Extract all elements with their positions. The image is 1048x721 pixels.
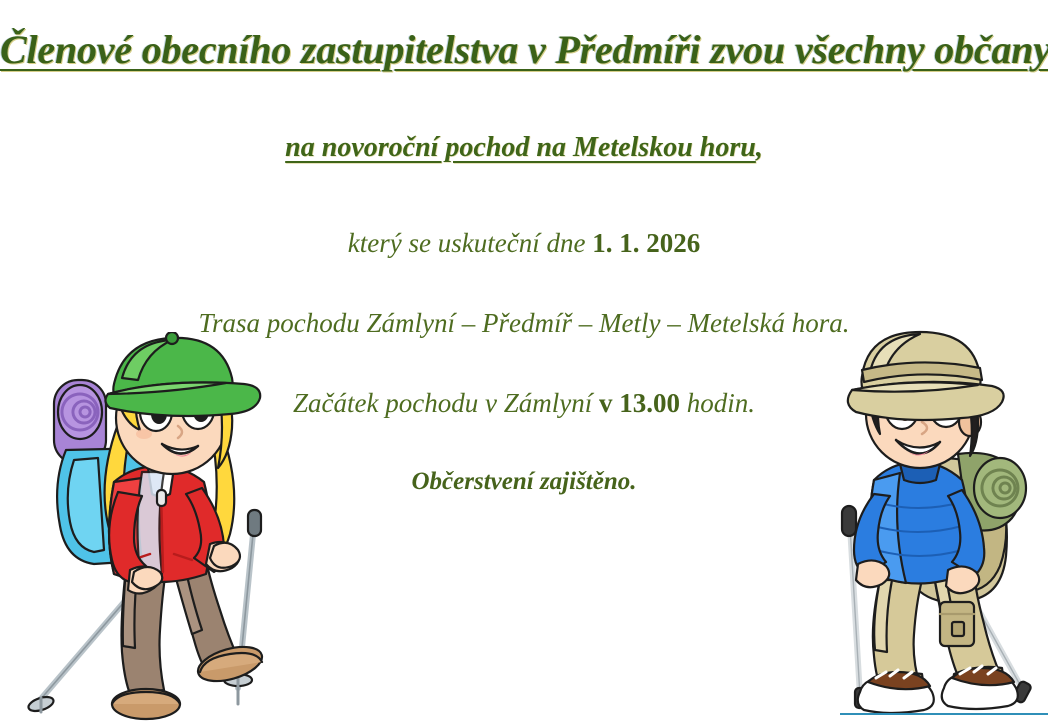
date-line: který se uskuteční dne 1. 1. 2026	[0, 228, 1048, 259]
bottom-accent-rule	[840, 713, 1048, 715]
bucket-hat	[848, 332, 1004, 420]
start-time-value: v 13.00	[599, 388, 680, 418]
subtitle-line: na novoroční pochod na Metelskou horu,	[0, 132, 1048, 164]
cap	[105, 332, 260, 416]
shoe-right	[942, 666, 1018, 709]
start-tail-text: hodin.	[680, 388, 755, 418]
boy-hiker-illustration	[812, 330, 1048, 721]
girl-hiker-illustration	[22, 332, 284, 721]
date-lead-text: který se uskuteční dne	[348, 228, 592, 258]
subtitle-underlined-text: na novoroční pochod na Metelskou horu	[285, 132, 756, 163]
page-title: Členové obecního zastupitelstva v Předmí…	[0, 26, 1048, 73]
start-lead-text: Začátek pochodu v Zámlyní	[293, 388, 599, 418]
subtitle-comma: ,	[756, 132, 763, 163]
date-value: 1. 1. 2026	[592, 228, 700, 258]
poster-canvas: Členové obecního zastupitelstva v Předmí…	[0, 0, 1048, 721]
